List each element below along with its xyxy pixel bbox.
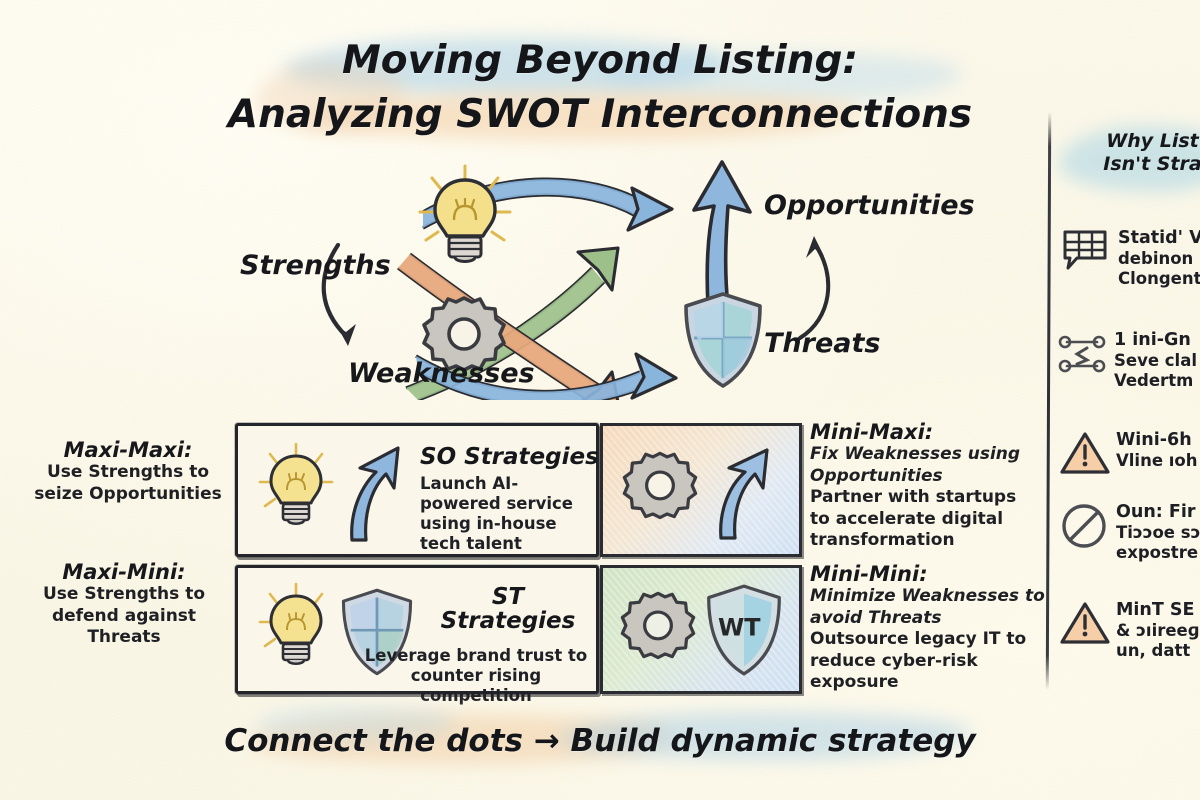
sidebar-heading: Why List Isn't Stra [1065, 130, 1200, 176]
shield-icon [680, 290, 766, 390]
note-mini-mini-sub: Minimize Weaknesses to avoid Threats [810, 586, 1045, 629]
note-mini-mini-body: Outsource legacy IT to reduce cyber-risk… [810, 629, 1045, 694]
sidebar-item-head: Wini-6h [1116, 430, 1198, 451]
sidebar-list-item[interactable]: Statid' V debinon Clongent [1061, 228, 1200, 290]
node-label-weaknesses: Weaknesses [348, 358, 535, 389]
note-maxi-mini: Maxi-Mini: Use Strengths to defend again… [18, 560, 230, 649]
sidebar-list-item[interactable]: 1 ini-Gn Seve clal Vedertm [1057, 330, 1200, 392]
st-strategies-box[interactable]: ST Strategies Leverage brand trust to co… [235, 565, 599, 694]
sidebar-item-line2: debinon [1118, 249, 1193, 268]
so-box-body: Launch AI-powered service using in-house… [420, 474, 586, 554]
node-label-threats: Threats [764, 328, 880, 359]
sidebar-heading-line-2: Isn't Stra [1065, 153, 1200, 176]
wo-strategies-tile[interactable] [600, 423, 802, 557]
sidebar-heading-line-1: Why List [1065, 130, 1200, 153]
wt-strategies-tile[interactable]: WT [600, 565, 802, 694]
lightbulb-icon [254, 440, 338, 540]
note-maxi-maxi-head: Maxi-Maxi: [28, 438, 228, 462]
so-strategies-box[interactable]: SO Strategies Launch AI-powered service … [235, 423, 599, 557]
page-title-line-1: Moving Beyond Listing: [200, 34, 1000, 88]
note-mini-maxi-sub: Fix Weaknesses using Opportunities [810, 444, 1040, 487]
page-title-line-2: Analyzing SWOT Interconnections [200, 88, 1000, 142]
wt-shield-label: WT [718, 614, 761, 642]
sidebar-item-line2: & ɔıireeɡ [1116, 621, 1200, 640]
note-maxi-mini-head: Maxi-Mini: [18, 560, 230, 584]
sidebar-item-line3: Clongent [1118, 269, 1200, 288]
sidebar-list-item[interactable]: Wini-6h Vline ıoh [1059, 430, 1200, 474]
sidebar-item-line3: un, datt [1116, 641, 1190, 660]
sidebar-item-text: Wini-6h Vline ıoh [1116, 430, 1198, 471]
node-label-strengths: Strengths [240, 250, 391, 281]
note-maxi-maxi: Maxi-Maxi: Use Strengths to seize Opport… [28, 438, 228, 505]
up-arrow-icon [336, 442, 414, 542]
warning-triangle-icon [1059, 430, 1107, 474]
page-title: Moving Beyond Listing: Analyzing SWOT In… [200, 34, 1000, 142]
sidebar-item-text: Statid' V debinon Clongent [1118, 228, 1200, 290]
warning-triangle-icon [1059, 600, 1107, 644]
sidebar-item-head: Statid' V [1118, 228, 1200, 249]
sidebar-list-item[interactable]: MinT SE & ɔıireeɡ un, datt [1059, 600, 1200, 662]
sidebar-item-head: MinT SE [1116, 600, 1200, 621]
sidebar-item-text: MinT SE & ɔıireeɡ un, datt [1116, 600, 1200, 662]
note-maxi-maxi-body: Use Strengths to seize Opportunities [28, 462, 228, 505]
gear-icon [617, 588, 699, 670]
st-box-body: Leverage brand trust to counter rising c… [360, 646, 592, 706]
gear-icon [619, 448, 701, 530]
sidebar-list-item[interactable]: Oun: Fir Tiɔɔoe sɔ expostre [1059, 502, 1200, 564]
node-label-opportunities: Opportunities [764, 190, 975, 221]
st-box-title-line1: ST [424, 584, 592, 610]
note-mini-maxi-body: Partner with startups to accelerate digi… [810, 487, 1040, 552]
note-mini-mini-head: Mini-Mini: [810, 562, 1045, 586]
sidebar-item-head: 1 ini-Gn [1114, 330, 1197, 351]
lightbulb-icon [410, 160, 520, 270]
shield-icon: WT [703, 582, 785, 678]
double-arrow-icon [1057, 330, 1105, 374]
footer-banner: Connect the dots → Build dynamic strateg… [200, 718, 1000, 764]
sidebar-item-head: Oun: Fir [1116, 502, 1200, 523]
note-mini-maxi: Mini-Maxi: Fix Weaknesses using Opportun… [810, 420, 1040, 552]
note-mini-maxi-head: Mini-Maxi: [810, 420, 1040, 444]
st-box-title-line2: Strategies [424, 608, 592, 634]
sidebar-item-line3: expostre [1116, 543, 1198, 562]
note-mini-mini: Mini-Mini: Minimize Weaknesses to avoid … [810, 562, 1045, 694]
speech-table-icon [1061, 228, 1109, 272]
sidebar-item-text: 1 ini-Gn Seve clal Vedertm [1114, 330, 1197, 392]
lightbulb-icon [254, 580, 338, 680]
sidebar-item-line2: Vline ıoh [1116, 451, 1198, 470]
up-arrow-icon [707, 444, 781, 540]
up-arrow-icon [670, 158, 770, 308]
sidebar-panel: Why List Isn't Stra Statid' V debinon Cl… [1047, 100, 1200, 710]
sidebar-item-line2: Seve clal [1114, 351, 1197, 370]
sidebar-item-text: Oun: Fir Tiɔɔoe sɔ expostre [1116, 502, 1200, 564]
no-entry-icon [1059, 502, 1107, 546]
note-maxi-mini-body: Use Strengths to defend against Threats [18, 584, 230, 649]
sidebar-item-line2: Tiɔɔoe sɔ [1116, 523, 1200, 542]
sidebar-item-line3: Vedertm [1114, 371, 1193, 390]
so-box-title: SO Strategies [420, 444, 599, 470]
footer-text: Connect the dots → Build dynamic strateg… [224, 723, 975, 759]
